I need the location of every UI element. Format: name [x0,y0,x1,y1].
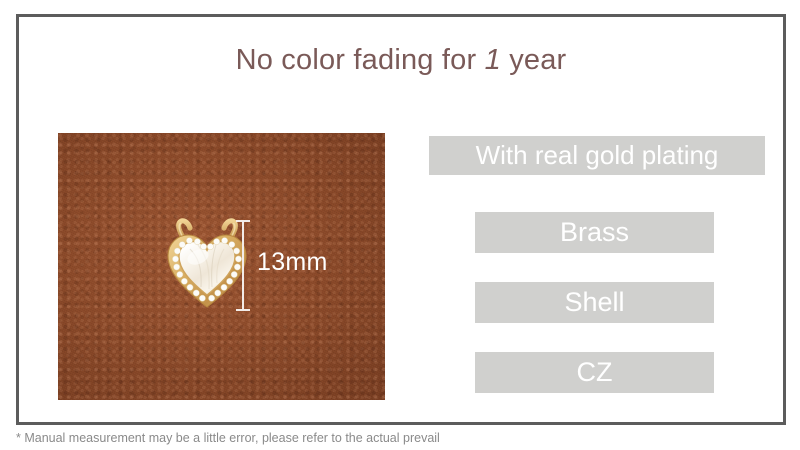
product-photo: 13mm [58,133,385,400]
measurement-label: 13mm [257,248,328,277]
measurement-line [242,221,244,310]
spec-bar-brass: Brass [475,212,714,253]
measurement-bar [241,218,245,313]
page-title-text-before: No color fading for [236,44,485,76]
page-title: No color fading for 1 year [20,44,782,77]
spec-label: CZ [577,357,613,388]
spec-bar-shell: Shell [475,282,714,323]
spec-label: With real gold plating [476,140,719,171]
spec-bar-gold-plating: With real gold plating [429,136,765,175]
spec-label: Brass [560,217,629,248]
spec-bar-cz: CZ [475,352,714,393]
spec-label: Shell [564,287,624,318]
page-title-text-after: year [501,44,566,76]
page-title-accent-number: 1 [485,44,501,76]
measurement-cap-bottom [236,309,250,311]
measurement-disclaimer: * Manual measurement may be a little err… [16,431,440,445]
